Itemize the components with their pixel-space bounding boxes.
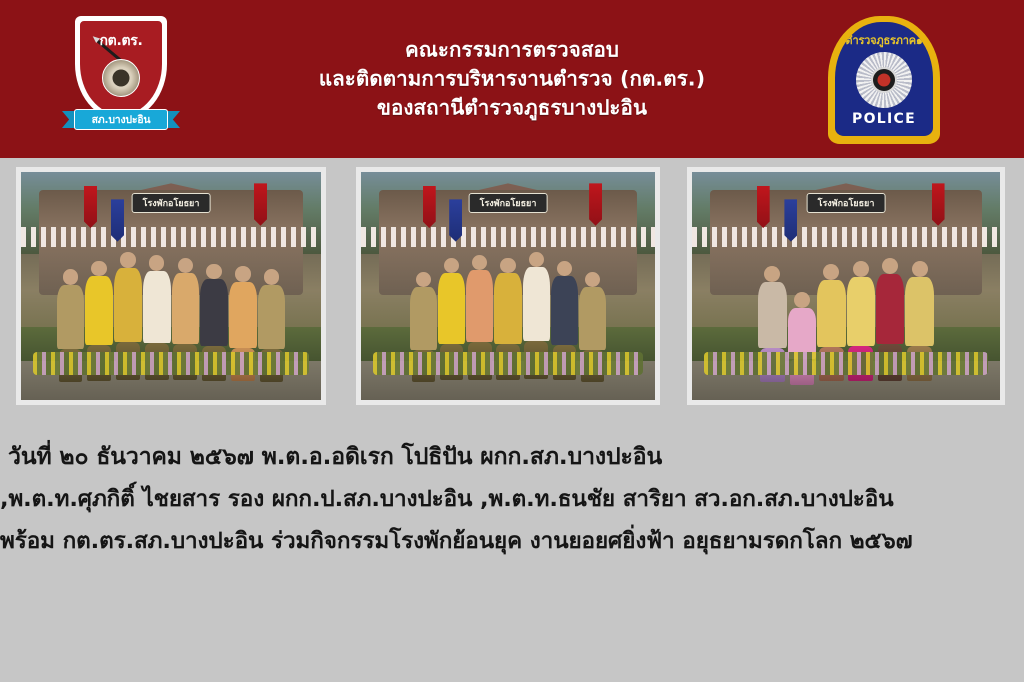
- ribbon-band: สภ.บางปะอิน: [74, 109, 168, 130]
- police-star-icon: [856, 52, 912, 108]
- header-title: คณะกรรมการตรวจสอบ และติดตามการบริหารงานต…: [319, 35, 705, 122]
- photo-women-in-thai-costume: โรงพักอโยธยา: [687, 167, 1005, 405]
- royal-seal-icon: [102, 59, 140, 97]
- header-title-line-2: และติดตามการบริหารงานตำรวจ (กต.ตร.): [319, 64, 705, 93]
- shield-acronym-label: กต.ตร.: [80, 30, 162, 52]
- photo-group-officials-and-guests: โรงพักอโยธยา: [16, 167, 326, 405]
- scene-flowerbed: [33, 352, 309, 375]
- scene-flowerbed: [373, 352, 644, 375]
- scene-signboard: โรงพักอโยธยา: [469, 193, 548, 213]
- scene-signboard: โรงพักอโยธยา: [132, 193, 211, 213]
- ribbon-station-label: สภ.บางปะอิน: [92, 111, 151, 128]
- header-title-line-3: ของสถานีตำรวจภูธรบางปะอิน: [319, 94, 705, 123]
- scene-flowerbed: [704, 352, 987, 375]
- caption-line-3: พร้อม กต.ตร.สภ.บางปะอิน ร่วมกิจกรรมโรงพั…: [0, 521, 1024, 563]
- badge-police-label: POLICE: [835, 111, 933, 127]
- photo-scene: โรงพักอโยธยา: [361, 172, 655, 400]
- caption-block: วันที่ ๒๐ ธันวาคม ๒๕๖๗ พ.ต.อ.อดิเรก โปธิ…: [0, 436, 1024, 562]
- photo-scene: โรงพักอโยธยา: [692, 172, 1000, 400]
- badge-star-center-icon: [871, 67, 897, 93]
- shield-ribbon: สภ.บางปะอิน: [62, 106, 180, 136]
- caption-line-2: ,พ.ต.ท.ศุภกิติ์ ไชยสาร รอง ผกก.ป.สภ.บางป…: [0, 479, 1024, 521]
- photo-officers-in-historic-uniform: โรงพักอโยธยา: [356, 167, 660, 405]
- header-title-line-1: คณะกรรมการตรวจสอบ: [319, 35, 705, 64]
- header-banner: กต.ตร. สภ.บางปะอิน คณะกรรมการตรวจสอบ และ…: [0, 0, 1024, 158]
- provincial-police-region-1-badge: ตำรวจภูธรภาค๑ POLICE: [824, 14, 944, 148]
- scene-signboard: โรงพักอโยธยา: [807, 193, 886, 213]
- kor-tor-tor-shield-logo: กต.ตร. สภ.บางปะอิน: [62, 14, 180, 146]
- photo-scene: โรงพักอโยธยา: [21, 172, 321, 400]
- photo-strip: โรงพักอโยธยา โรงพักอโ: [0, 158, 1024, 430]
- badge-field: ตำรวจภูธรภาค๑ POLICE: [835, 22, 933, 136]
- caption-line-1: วันที่ ๒๐ ธันวาคม ๒๕๖๗ พ.ต.อ.อดิเรก โปธิ…: [0, 436, 1024, 479]
- badge-arc-label: ตำรวจภูธรภาค๑: [835, 31, 933, 49]
